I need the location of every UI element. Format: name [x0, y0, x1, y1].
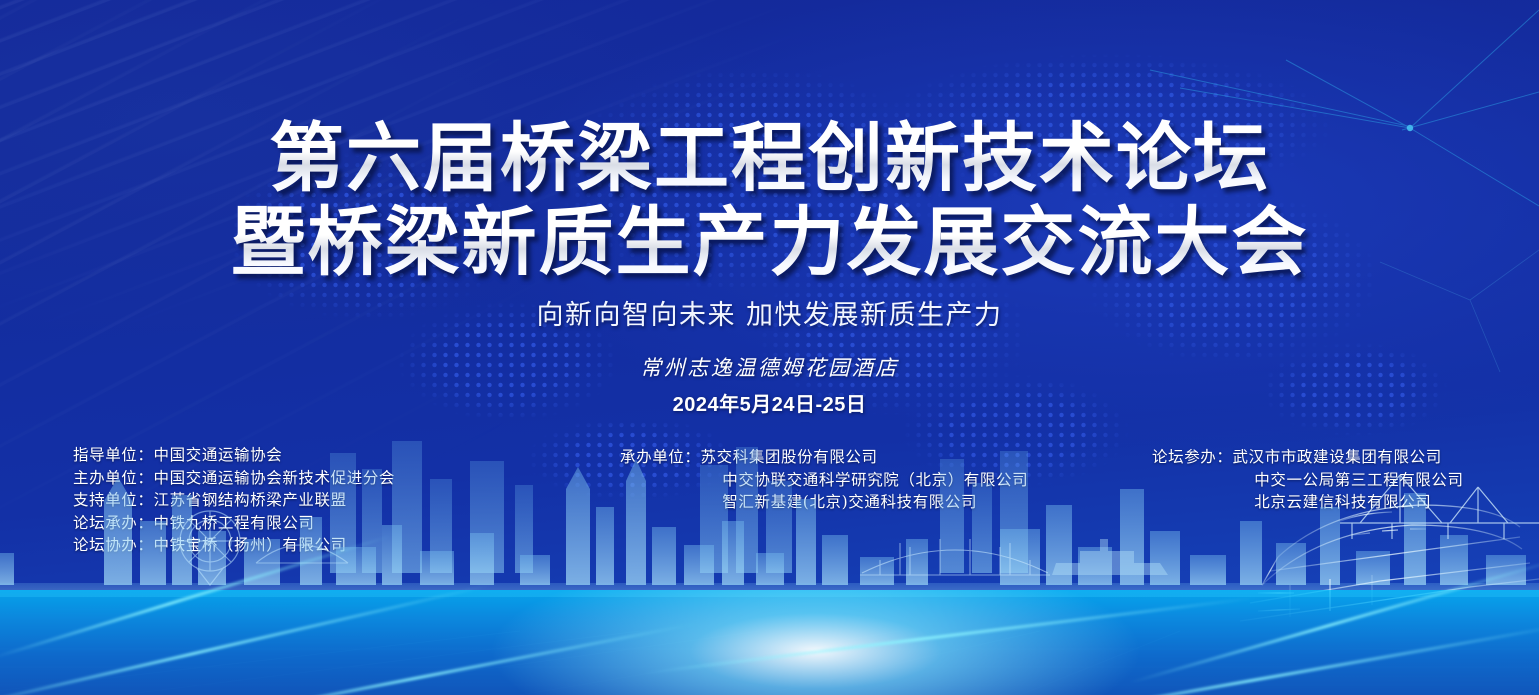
- organizer-label: 主办单位：: [73, 467, 154, 490]
- banner-content: 第六届桥梁工程创新技术论坛 暨桥梁新质生产力发展交流大会 向新向智向未来 加快发…: [0, 0, 1539, 695]
- organizer-label: 指导单位：: [73, 444, 154, 467]
- organizer-column-middle: 承办单位：苏交科集团股份有限公司 中交协联交通科学研究院（北京）有限公司 智汇新…: [620, 446, 1028, 514]
- organizer-label: 承办单位：: [620, 446, 701, 469]
- slogan: 向新向智向未来 加快发展新质生产力: [0, 293, 1539, 332]
- venue-place: 常州志逸温德姆花园酒店: [0, 352, 1539, 382]
- organizer-column-right: 论坛参办：武汉市市政建设集团有限公司 中交一公局第三工程有限公司 北京云建信科技…: [1152, 446, 1464, 514]
- organizer-label: 论坛协办：: [73, 534, 154, 557]
- organizer-value: 中铁九桥工程有限公司: [154, 514, 315, 532]
- organizer-column-left: 指导单位：中国交通运输协会 主办单位：中国交通运输协会新技术促进分会 支持单位：…: [73, 444, 395, 557]
- organizer-label: 支持单位：: [73, 489, 154, 512]
- organizer-value: 苏交科集团股份有限公司: [701, 448, 878, 466]
- organizer-value: 中交一公局第三工程有限公司: [1254, 471, 1463, 489]
- organizer-value: 北京云建信科技有限公司: [1254, 493, 1431, 511]
- organizer-credits: 指导单位：中国交通运输协会 主办单位：中国交通运输协会新技术促进分会 支持单位：…: [0, 444, 1539, 574]
- organizer-row: 论坛承办：中铁九桥工程有限公司: [73, 512, 395, 535]
- organizer-row: 中交一公局第三工程有限公司: [1152, 469, 1464, 492]
- organizer-value: 智汇新基建(北京)交通科技有限公司: [722, 493, 977, 511]
- organizer-row: 指导单位：中国交通运输协会: [73, 444, 395, 467]
- organizer-row: 主办单位：中国交通运输协会新技术促进分会: [73, 467, 395, 490]
- organizer-value: 中交协联交通科学研究院（北京）有限公司: [722, 471, 1028, 489]
- organizer-row: 承办单位：苏交科集团股份有限公司: [620, 446, 1028, 469]
- organizer-value: 江苏省钢结构桥梁产业联盟: [154, 491, 347, 509]
- organizer-row: 论坛参办：武汉市市政建设集团有限公司: [1152, 446, 1464, 469]
- organizer-value: 武汉市市政建设集团有限公司: [1233, 448, 1442, 466]
- organizer-row: 智汇新基建(北京)交通科技有限公司: [620, 491, 1028, 514]
- organizer-value: 中铁宝桥（扬州）有限公司: [154, 536, 347, 554]
- title-line-1: 第六届桥梁工程创新技术论坛: [0, 116, 1539, 200]
- organizer-value: 中国交通运输协会新技术促进分会: [154, 469, 396, 487]
- organizer-label: 论坛参办：: [1152, 446, 1233, 469]
- main-title: 第六届桥梁工程创新技术论坛 暨桥梁新质生产力发展交流大会: [0, 116, 1539, 284]
- venue-date: 2024年5月24日-25日: [0, 388, 1539, 417]
- organizer-value: 中国交通运输协会: [154, 446, 283, 464]
- organizer-row: 论坛协办：中铁宝桥（扬州）有限公司: [73, 534, 395, 557]
- venue-info: 常州志逸温德姆花园酒店 2024年5月24日-25日: [0, 352, 1539, 417]
- organizer-row: 支持单位：江苏省钢结构桥梁产业联盟: [73, 489, 395, 512]
- title-line-2: 暨桥梁新质生产力发展交流大会: [0, 200, 1539, 284]
- organizer-label: 论坛承办：: [73, 512, 154, 535]
- conference-banner: 第六届桥梁工程创新技术论坛 暨桥梁新质生产力发展交流大会 向新向智向未来 加快发…: [0, 0, 1539, 695]
- organizer-row: 中交协联交通科学研究院（北京）有限公司: [620, 469, 1028, 492]
- organizer-row: 北京云建信科技有限公司: [1152, 491, 1464, 514]
